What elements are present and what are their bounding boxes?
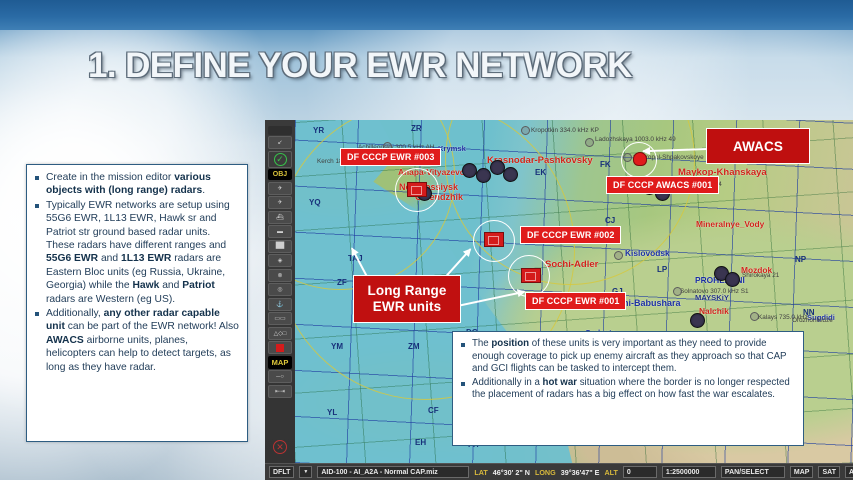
city-label: Kislovodsk: [625, 248, 670, 258]
callout-ewr-003[interactable]: DF CCCP EWR #003: [340, 148, 441, 166]
bullet-text: Additionally,: [46, 308, 104, 319]
toolbar-button-select-tool[interactable]: [268, 126, 292, 135]
status-button-alt[interactable]: ALT: [845, 466, 853, 478]
city-label: Mineralnye_Vody: [696, 219, 764, 229]
bullet-item: Create in the mission editor various obj…: [33, 171, 239, 198]
grid-label: LP: [657, 265, 667, 274]
callout-ewr-001[interactable]: DF CCCP EWR #001: [525, 292, 626, 310]
status-alt-input[interactable]: 0: [623, 466, 657, 478]
callout-ewr-002[interactable]: DF CCCP EWR #002: [520, 226, 621, 244]
abort-icon: ✕: [273, 440, 287, 454]
status-preset-dropdown[interactable]: ▼: [299, 466, 312, 478]
bullet-text: and: [98, 253, 121, 264]
grid-label: ZF: [337, 278, 347, 287]
grid-label: NP: [795, 255, 806, 264]
grid-label: FK: [600, 160, 611, 169]
city-label: Sochi-Adler: [545, 259, 598, 270]
beacon-icon: [673, 287, 682, 296]
toolbar-button-vehicle-tool[interactable]: ▬: [268, 225, 292, 238]
bullet-text: can be part of the EWR network! Also: [65, 321, 239, 332]
city-label: Krymsk: [438, 144, 466, 153]
beacon-label: Shirokaya 21: [742, 272, 779, 279]
toolbar-button-trigger-zone-tool[interactable]: ⊗: [268, 269, 292, 282]
sam-site-icon[interactable]: [462, 163, 477, 178]
grid-label: EK: [535, 168, 546, 177]
grid-label: YL: [327, 408, 337, 417]
bullet-item: Additionally in a hot war situation wher…: [459, 377, 794, 402]
status-mission-file[interactable]: AID-100 - AI_A2A - Normal CAP.miz: [317, 466, 469, 478]
toolbar-button-red-unit-tool[interactable]: [268, 341, 292, 354]
grid-label: EH: [415, 438, 426, 447]
grid-label: YM: [331, 342, 343, 351]
bullet-item: Typically EWR networks are setup using 5…: [33, 199, 239, 306]
status-long-value: 39°36'47" E: [561, 468, 600, 477]
bullet-emphasis: 1L13 EWR: [121, 253, 171, 264]
ewr-unit-002[interactable]: [484, 232, 504, 247]
status-preset-field[interactable]: DFLT: [269, 466, 294, 478]
status-button-sat[interactable]: SAT: [818, 466, 839, 478]
status-scale-field[interactable]: 1:2500000: [662, 466, 716, 478]
beacon-label: Kropotkin 334.0 kHz KP: [531, 127, 599, 134]
left-bullet-list: Create in the mission editor various obj…: [33, 171, 239, 374]
beacon-icon: [750, 312, 759, 321]
toolbar-button-train-tool[interactable]: ██: [268, 240, 292, 253]
toolbar-button-select-tool[interactable]: ↙: [268, 136, 292, 149]
red-square-icon: [276, 344, 284, 352]
bullet-item: The position of these units is very impo…: [459, 338, 794, 376]
grid-label: CJ: [605, 216, 615, 225]
status-lat-value: 46°30' 2" N: [493, 468, 530, 477]
bullet-emphasis: 55G6 EWR: [46, 253, 98, 264]
toolbar-button-shape-tool[interactable]: △◇□: [268, 327, 292, 340]
beacon-label: Solnatovo 307.0 kHz S1: [680, 288, 749, 295]
toolbar-button-coalition-tool[interactable]: ▭▭: [268, 312, 292, 325]
grid-label: ZR: [411, 124, 422, 133]
annotation-line-2: EWR units: [363, 299, 451, 315]
status-lat-label: LAT: [474, 468, 487, 477]
slide-top-accent-bar: [0, 0, 853, 30]
bullet-emphasis: AWACS: [46, 335, 84, 346]
check-icon: ✓: [274, 153, 287, 166]
ewr-unit-003[interactable]: [407, 182, 427, 197]
ewr-unit-001[interactable]: [521, 268, 541, 283]
bullet-emphasis: hot war: [543, 377, 577, 388]
toolbar-section-obj: OBJ: [268, 169, 292, 180]
toolbar-button-abort[interactable]: ✕: [268, 437, 292, 457]
toolbar-button-aircraft-tool[interactable]: ✈: [268, 182, 292, 195]
toolbar-button-confirm-tool[interactable]: ✓: [268, 151, 292, 168]
sam-site-icon[interactable]: [476, 168, 491, 183]
beacon-icon: [521, 126, 530, 135]
toolbar-button-static-tool[interactable]: ◈: [268, 254, 292, 267]
beacon-label: Ordzhonikidze: [792, 317, 833, 324]
grid-label: CF: [428, 406, 439, 415]
bullet-text: .: [202, 185, 205, 196]
bullet-text: Create in the mission editor: [46, 172, 174, 183]
bullet-emphasis: Hawk: [132, 280, 159, 291]
bullet-text: Typically EWR networks are setup using 5…: [46, 200, 230, 251]
left-text-panel: Create in the mission editor various obj…: [26, 164, 248, 442]
status-long-label: LONG: [535, 468, 556, 477]
callout-awacs-001[interactable]: DF CCCP AWACS #001: [606, 176, 719, 194]
city-label: Nalchik: [699, 306, 729, 316]
bullet-emphasis: Patriot: [182, 280, 215, 291]
slide-background: 1. DEFINE YOUR EWR NETWORK Create in the…: [0, 0, 853, 480]
annotation-awacs[interactable]: AWACS: [706, 128, 810, 164]
right-text-panel: The position of these units is very impo…: [452, 331, 804, 446]
sam-site-icon[interactable]: [503, 167, 518, 182]
page-title: 1. DEFINE YOUR EWR NETWORK: [88, 46, 788, 96]
grid-label: ZM: [408, 342, 420, 351]
annotation-long-range-ewr-units[interactable]: Long Range EWR units: [353, 275, 461, 323]
toolbar-button-measure-tool[interactable]: ⇤⇥: [268, 385, 292, 398]
beacon-icon: [585, 138, 594, 147]
bullet-text: Additionally in a: [472, 377, 543, 388]
status-button-map[interactable]: MAP: [790, 466, 814, 478]
bullet-emphasis: position: [491, 338, 529, 349]
bullet-text: and: [159, 280, 182, 291]
toolbar-button-ruler-tool[interactable]: ─○: [268, 370, 292, 383]
annotation-line-1: Long Range: [363, 283, 451, 299]
right-bullet-list: The position of these units is very impo…: [459, 338, 794, 402]
toolbar-button-airbase-tool[interactable]: ⚓: [268, 298, 292, 311]
editor-status-bar: DFLT ▼ AID-100 - AI_A2A - Normal CAP.miz…: [265, 463, 853, 480]
toolbar-button-ship-tool[interactable]: ⛴: [268, 211, 292, 224]
grid-label: YQ: [309, 198, 321, 207]
bullet-text: radars are Western (eg US).: [46, 294, 175, 305]
editor-tool-palette[interactable]: ↙ ✓ OBJ ✈ ✈ ⛴ ▬ ██ ◈ ⊗ ◎ ⚓ ▭▭ △◇□ MAP ─○…: [265, 120, 295, 463]
toolbar-button-helicopter-tool[interactable]: ✈: [268, 196, 292, 209]
status-mode-field[interactable]: PAN/SELECT: [721, 466, 785, 478]
bullet-item: Additionally, any other radar capable un…: [33, 307, 239, 374]
toolbar-button-circle-tool[interactable]: ◎: [268, 283, 292, 296]
status-alt-label: ALT: [604, 468, 617, 477]
grid-label: YR: [313, 126, 324, 135]
beacon-icon: [614, 251, 623, 260]
toolbar-section-map: MAP: [268, 356, 292, 369]
bullet-text: The: [472, 338, 491, 349]
sam-site-icon[interactable]: [690, 313, 705, 328]
sam-site-icon[interactable]: [725, 272, 740, 287]
